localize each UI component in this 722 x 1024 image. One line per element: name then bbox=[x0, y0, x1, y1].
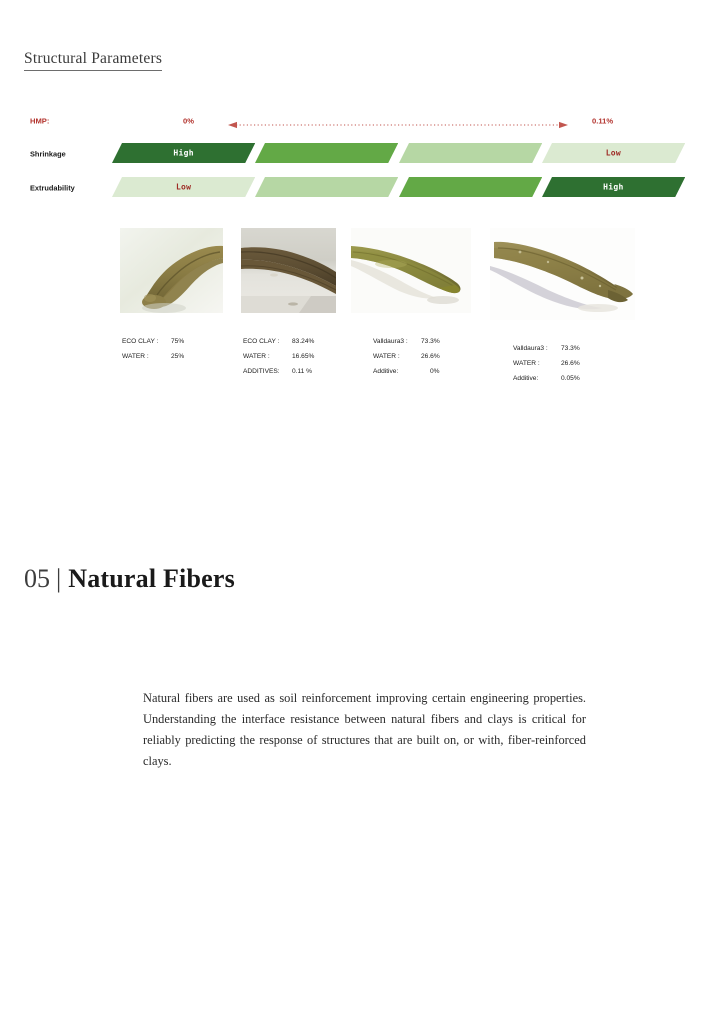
chapter-separator: | bbox=[56, 564, 61, 593]
spec-value: 25% bbox=[171, 354, 184, 361]
segment-shape bbox=[112, 143, 255, 163]
extrudability-label: Extrudability bbox=[30, 184, 75, 193]
chapter-title: 05|Natural Fibers bbox=[24, 564, 235, 594]
sample-card-4: Valldaura3 : 73.3% WATER : 26.6% Additiv… bbox=[490, 228, 635, 320]
spec-key: ECO CLAY : bbox=[122, 339, 158, 346]
segment-shape bbox=[255, 143, 398, 163]
spec-key: Valldaura3 : bbox=[513, 346, 548, 353]
extrudability-segment-4: High bbox=[542, 177, 685, 197]
extrudability-segment-1: Low bbox=[112, 177, 255, 197]
segment-shape bbox=[399, 143, 542, 163]
spec-key: ADDITIVES: bbox=[243, 369, 280, 376]
spec-value: 0.11 % bbox=[292, 369, 312, 376]
shrinkage-gradient-bar: High Low bbox=[112, 143, 685, 163]
extrudability-row: Extrudability Low bbox=[0, 177, 722, 199]
spec-value: 26.6% bbox=[421, 354, 440, 361]
sample-photo-1 bbox=[120, 228, 223, 313]
clay-extrusion-photo-icon bbox=[351, 228, 471, 313]
spec-key: Additive: bbox=[373, 369, 398, 376]
spec-value: 0.05% bbox=[561, 376, 580, 383]
sample-photo-2 bbox=[241, 228, 336, 313]
extrudability-gradient-bar: Low High bbox=[112, 177, 685, 197]
shrinkage-label: Shrinkage bbox=[30, 150, 66, 159]
sample-card-1: ECO CLAY : 75% WATER : 25% bbox=[120, 228, 225, 313]
spec-key: WATER : bbox=[513, 361, 540, 368]
spec-key: WATER : bbox=[373, 354, 400, 361]
segment-shape bbox=[542, 177, 685, 197]
spec-value: 73.3% bbox=[421, 339, 440, 346]
extrudability-segment-2 bbox=[255, 177, 398, 197]
hmp-max-value: 0.11% bbox=[592, 117, 613, 126]
spec-value: 0% bbox=[430, 369, 440, 376]
extrudability-segment-3 bbox=[399, 177, 542, 197]
body-paragraph: Natural fibers are used as soil reinforc… bbox=[143, 688, 586, 772]
segment-shape bbox=[112, 177, 255, 197]
spec-value: 16.65% bbox=[292, 354, 314, 361]
spec-value: 83.24% bbox=[292, 339, 314, 346]
shrinkage-segment-4: Low bbox=[542, 143, 685, 163]
hmp-label: HMP: bbox=[30, 117, 49, 126]
document-page: Structural Parameters HMP: 0% 0.11% Shri… bbox=[0, 0, 722, 1024]
hmp-min-value: 0% bbox=[183, 117, 194, 126]
hmp-row: HMP: 0% 0.11% bbox=[0, 110, 722, 132]
structural-parameters-chart: HMP: 0% 0.11% Shrinkage High bbox=[0, 110, 722, 210]
sample-gallery: ECO CLAY : 75% WATER : 25% bbox=[0, 228, 722, 398]
double-headed-dotted-arrow-icon bbox=[228, 117, 568, 126]
spec-key: Additive: bbox=[513, 376, 538, 383]
clay-extrusion-photo-icon bbox=[490, 228, 635, 320]
chapter-number: 05 bbox=[24, 564, 50, 593]
spec-key: Valldaura3 : bbox=[373, 339, 408, 346]
spec-value: 26.6% bbox=[561, 361, 580, 368]
spec-value: 75% bbox=[171, 339, 184, 346]
spec-key: ECO CLAY : bbox=[243, 339, 279, 346]
segment-shape bbox=[399, 177, 542, 197]
clay-extrusion-photo-icon bbox=[241, 228, 336, 313]
section-title: Structural Parameters bbox=[24, 50, 162, 71]
segment-shape bbox=[255, 177, 398, 197]
sample-photo-4 bbox=[490, 228, 635, 320]
sample-card-2: ECO CLAY : 83.24% WATER : 16.65% ADDITIV… bbox=[241, 228, 346, 313]
shrinkage-segment-1: High bbox=[112, 143, 255, 163]
shrinkage-segment-3 bbox=[399, 143, 542, 163]
shrinkage-segment-2 bbox=[255, 143, 398, 163]
spec-key: WATER : bbox=[243, 354, 270, 361]
spec-value: 73.3% bbox=[561, 346, 580, 353]
sample-card-3: Valldaura3 : 73.3% WATER : 26.6% Additiv… bbox=[351, 228, 471, 313]
sample-photo-3 bbox=[351, 228, 471, 313]
clay-extrusion-photo-icon bbox=[120, 228, 223, 313]
spec-key: WATER : bbox=[122, 354, 149, 361]
segment-shape bbox=[542, 143, 685, 163]
chapter-name: Natural Fibers bbox=[68, 564, 235, 593]
shrinkage-row: Shrinkage High bbox=[0, 143, 722, 165]
